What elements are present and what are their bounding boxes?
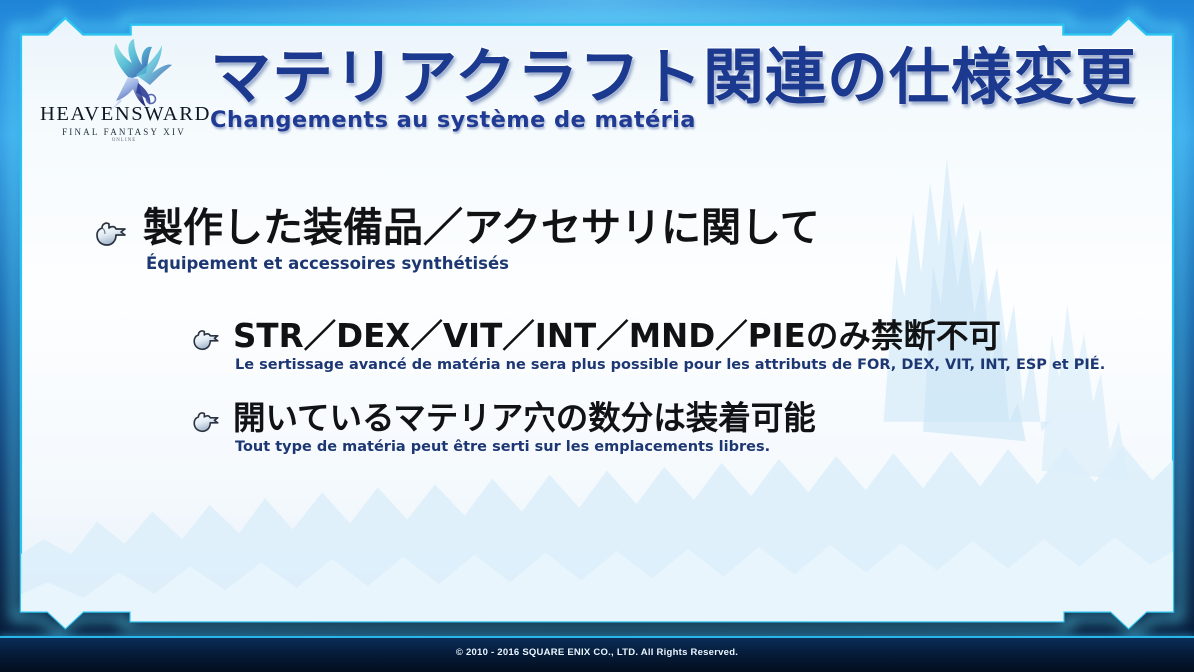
pointing-hand-icon xyxy=(92,219,130,249)
bullet-text-ja: 製作した装備品／アクセサリに関して xyxy=(143,205,820,251)
list-item: 開いているマテリア穴の数分は装着可能 Tout type de matéria … xyxy=(14,401,1180,455)
bullet-text-ja: STR／DEX／VIT／INT／MND／PIEのみ禁断不可 xyxy=(233,317,1001,355)
title-block: マテリアクラフト関連の仕様変更 Changements au système d… xyxy=(210,47,1110,133)
list-item: STR／DEX／VIT／INT／MND／PIEのみ禁断不可 Le sertiss… xyxy=(14,319,1180,373)
bullet-text-fr: Tout type de matéria peut être serti sur… xyxy=(235,439,1180,455)
page-title: マテリアクラフト関連の仕様変更 xyxy=(210,47,1110,109)
footer-bar: © 2010 - 2016 SQUARE ENIX CO., LTD. All … xyxy=(0,636,1194,672)
bullet-list: 製作した装備品／アクセサリに関して Équipement et accessoi… xyxy=(14,207,1180,483)
bullet-text-group: STR／DEX／VIT／INT／MND／PIEのみ禁断不可 Le sertiss… xyxy=(233,319,1180,373)
bullet-text-group: 製作した装備品／アクセサリに関して Équipement et accessoi… xyxy=(143,207,1180,273)
bullet-text-fr: Le sertissage avancé de matéria ne sera … xyxy=(235,357,1180,373)
slide-header: HEAVENSWARD FINAL FANTASY XIV ONLINE マテリ… xyxy=(14,11,1180,161)
logo-title: HEAVENSWARD xyxy=(40,103,208,126)
pointing-hand-icon xyxy=(190,409,222,435)
slide-card: HEAVENSWARD FINAL FANTASY XIV ONLINE マテリ… xyxy=(14,11,1180,635)
copyright-text: © 2010 - 2016 SQUARE ENIX CO., LTD. All … xyxy=(0,647,1194,658)
list-item: 製作した装備品／アクセサリに関して Équipement et accessoi… xyxy=(14,207,1180,273)
dragon-icon xyxy=(76,39,180,113)
bullet-text-fr: Équipement et accessoires synthétisés xyxy=(146,254,1180,273)
logo-subtitle: FINAL FANTASY XIV xyxy=(40,127,208,137)
bullet-text-ja: 開いているマテリア穴の数分は装着可能 xyxy=(233,399,816,437)
presentation-slide: HEAVENSWARD FINAL FANTASY XIV ONLINE マテリ… xyxy=(0,0,1194,672)
heavensward-logo: HEAVENSWARD FINAL FANTASY XIV ONLINE xyxy=(40,43,208,155)
bullet-text-group: 開いているマテリア穴の数分は装着可能 Tout type de matéria … xyxy=(233,401,1180,455)
logo-subtitle-secondary: ONLINE xyxy=(40,138,208,143)
pointing-hand-icon xyxy=(190,327,222,353)
